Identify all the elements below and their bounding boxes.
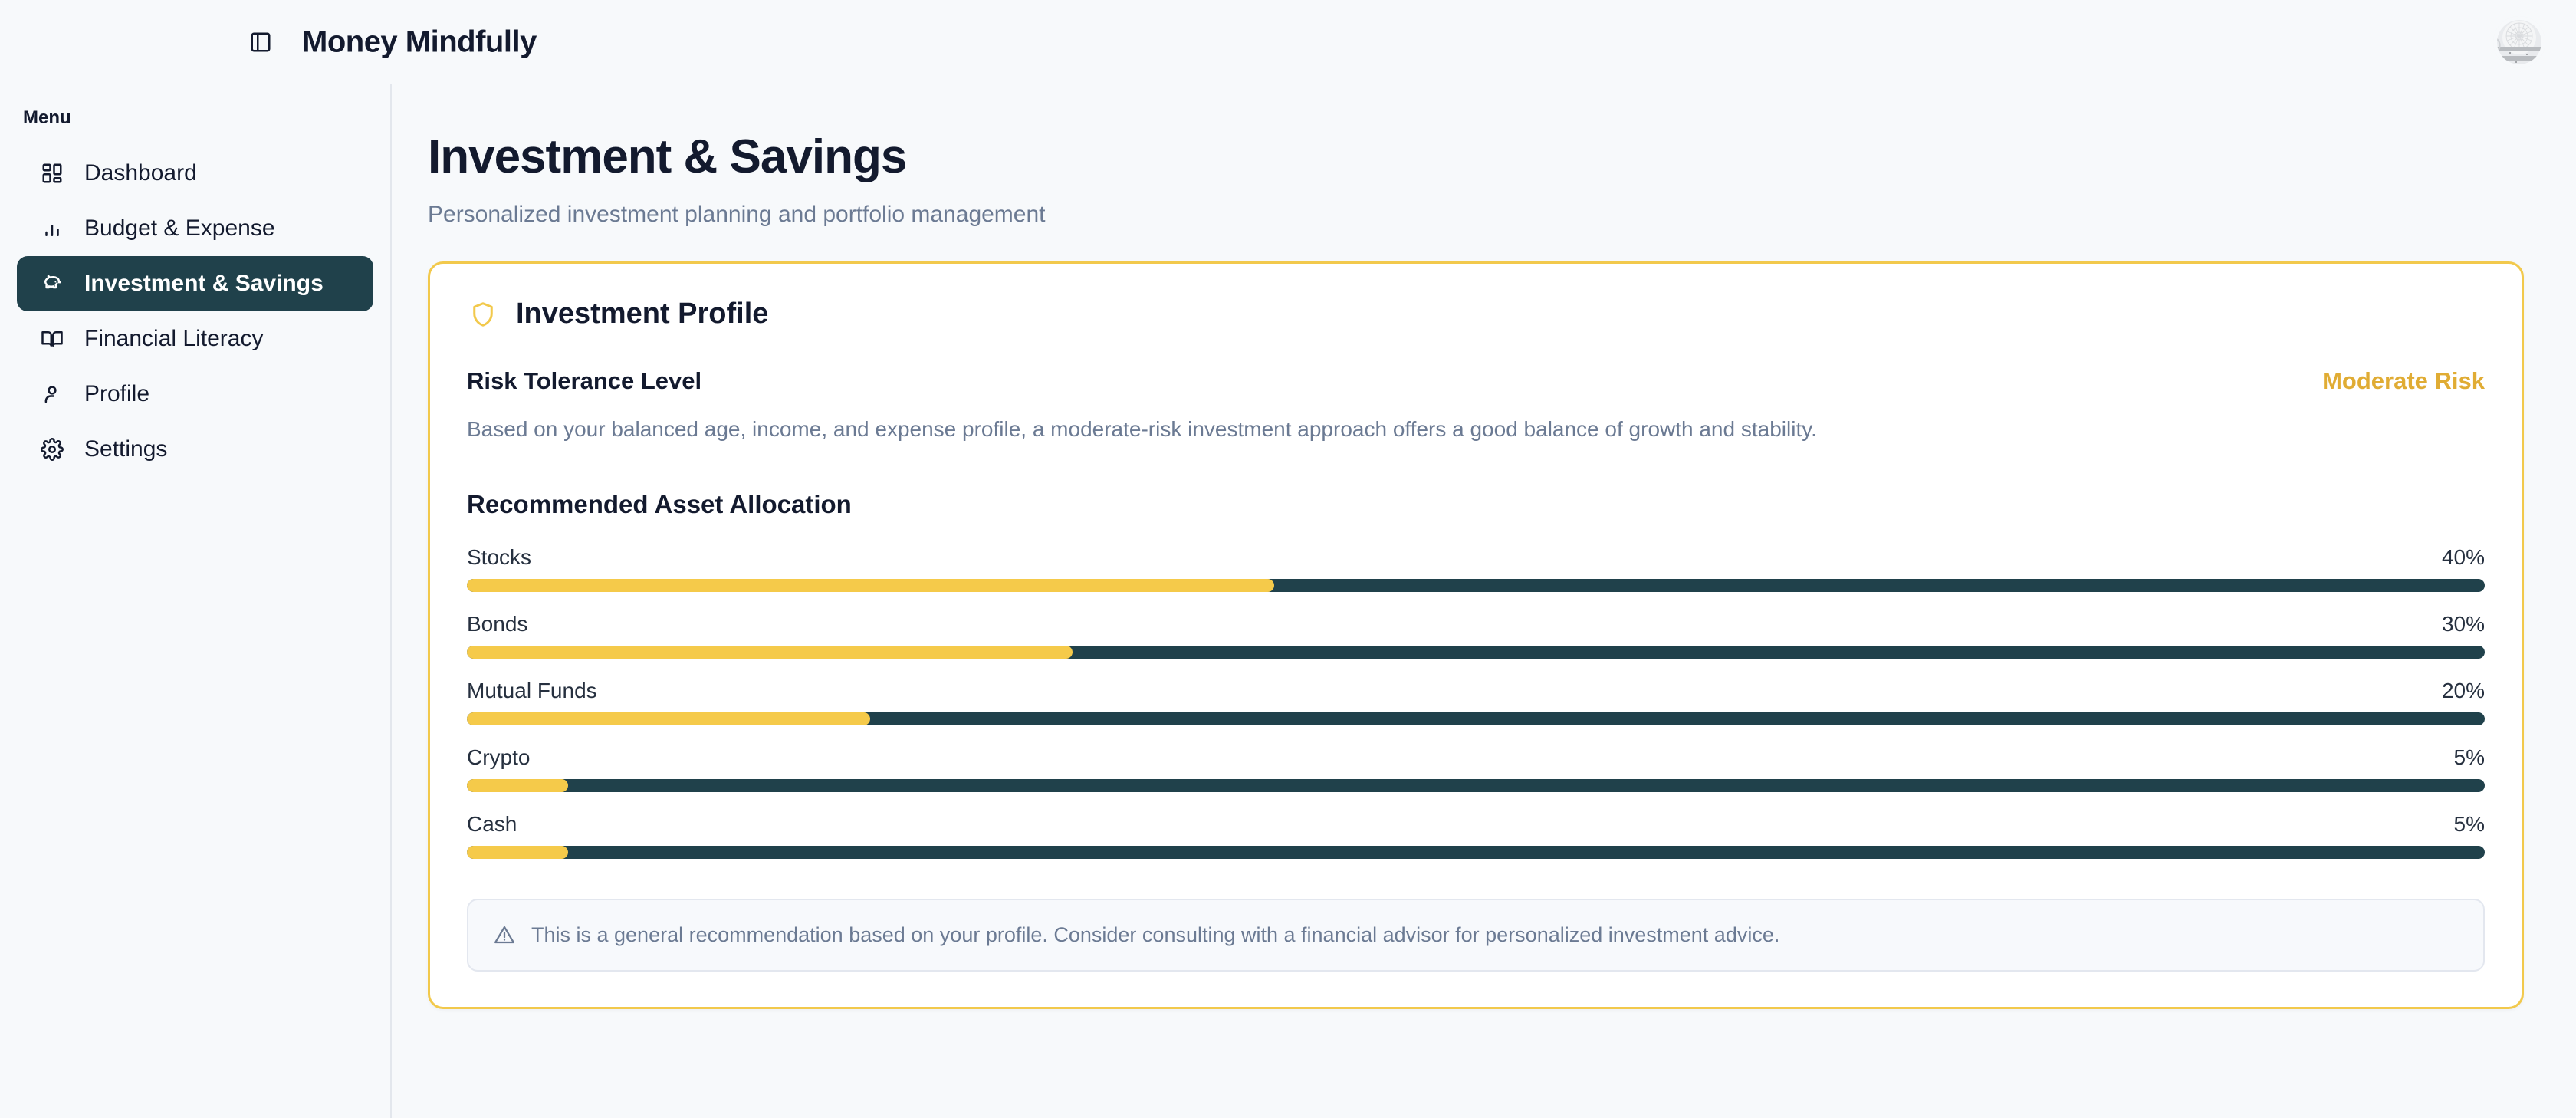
allocation-label: Bonds (467, 612, 527, 636)
asset-allocation-chart: Stocks 40% Bonds 30% Mutual Funds (467, 545, 2485, 859)
sidebar-item-label: Settings (84, 436, 167, 462)
progress-bar-track (467, 779, 2485, 792)
disclaimer-box: This is a general recommendation based o… (467, 899, 2485, 972)
brand-title: Money Mindfully (302, 25, 537, 60)
allocation-value: 5% (2454, 812, 2485, 837)
bar-chart-icon (37, 213, 67, 244)
progress-bar-fill (467, 712, 870, 725)
card-title: Investment Profile (516, 298, 768, 330)
allocation-row: Stocks 40% (467, 545, 2485, 592)
investment-profile-card: Investment Profile Risk Tolerance Level … (428, 261, 2524, 1009)
piggy-bank-icon (37, 268, 67, 299)
risk-tolerance-row: Risk Tolerance Level Moderate Risk (467, 367, 2485, 395)
card-header: Investment Profile (467, 298, 2485, 330)
sidebar-item-label: Profile (84, 381, 149, 407)
allocation-title: Recommended Asset Allocation (467, 490, 2485, 519)
sidebar-item-label: Budget & Expense (84, 215, 275, 242)
sidebar-item-label: Dashboard (84, 160, 197, 186)
progress-bar-track (467, 579, 2485, 592)
main-content: Investment & Savings Personalized invest… (393, 84, 2576, 1118)
progress-bar-fill (467, 646, 1073, 659)
allocation-value: 40% (2442, 545, 2485, 570)
sidebar: Menu Dashboard Budget & Expense Investme… (0, 84, 392, 1118)
allocation-label: Stocks (467, 545, 531, 570)
grid-icon (37, 158, 67, 189)
progress-bar-track (467, 712, 2485, 725)
sidebar-item-budget-expense[interactable]: Budget & Expense (17, 201, 373, 256)
sidebar-item-settings[interactable]: Settings (17, 422, 373, 477)
page-title: Investment & Savings (428, 132, 2522, 182)
gear-icon (37, 434, 67, 465)
avatar[interactable] (2493, 16, 2545, 68)
progress-bar-track (467, 846, 2485, 859)
sidebar-item-label: Financial Literacy (84, 326, 263, 352)
allocation-row: Mutual Funds 20% (467, 679, 2485, 725)
risk-tolerance-label: Risk Tolerance Level (467, 367, 701, 395)
sidebar-toggle-icon[interactable] (245, 27, 276, 58)
sidebar-item-profile[interactable]: Profile (17, 367, 373, 422)
warning-triangle-icon (491, 922, 517, 948)
user-icon (37, 379, 67, 409)
allocation-row: Bonds 30% (467, 612, 2485, 659)
risk-description: Based on your balanced age, income, and … (467, 415, 2485, 444)
allocation-row: Crypto 5% (467, 745, 2485, 792)
progress-bar-fill (467, 779, 568, 792)
sidebar-item-dashboard[interactable]: Dashboard (17, 146, 373, 201)
sidebar-section-label: Menu (0, 107, 390, 129)
allocation-value: 30% (2442, 612, 2485, 636)
app-header: Money Mindfully (0, 0, 2576, 84)
allocation-row: Cash 5% (467, 812, 2485, 859)
allocation-label: Cash (467, 812, 517, 837)
allocation-label: Mutual Funds (467, 679, 597, 703)
status-badge: Moderate Risk (2322, 367, 2485, 395)
allocation-label: Crypto (467, 745, 530, 770)
sidebar-item-label: Investment & Savings (84, 271, 324, 297)
disclaimer-text: This is a general recommendation based o… (531, 922, 1779, 949)
progress-bar-fill (467, 846, 568, 859)
progress-bar-track (467, 646, 2485, 659)
shield-icon (467, 298, 499, 330)
allocation-value: 5% (2454, 745, 2485, 770)
sidebar-item-investment-savings[interactable]: Investment & Savings (17, 256, 373, 311)
sidebar-item-financial-literacy[interactable]: Financial Literacy (17, 311, 373, 367)
book-open-icon (37, 324, 67, 354)
page-subtitle: Personalized investment planning and por… (428, 202, 2522, 228)
progress-bar-fill (467, 579, 1274, 592)
allocation-value: 20% (2442, 679, 2485, 703)
